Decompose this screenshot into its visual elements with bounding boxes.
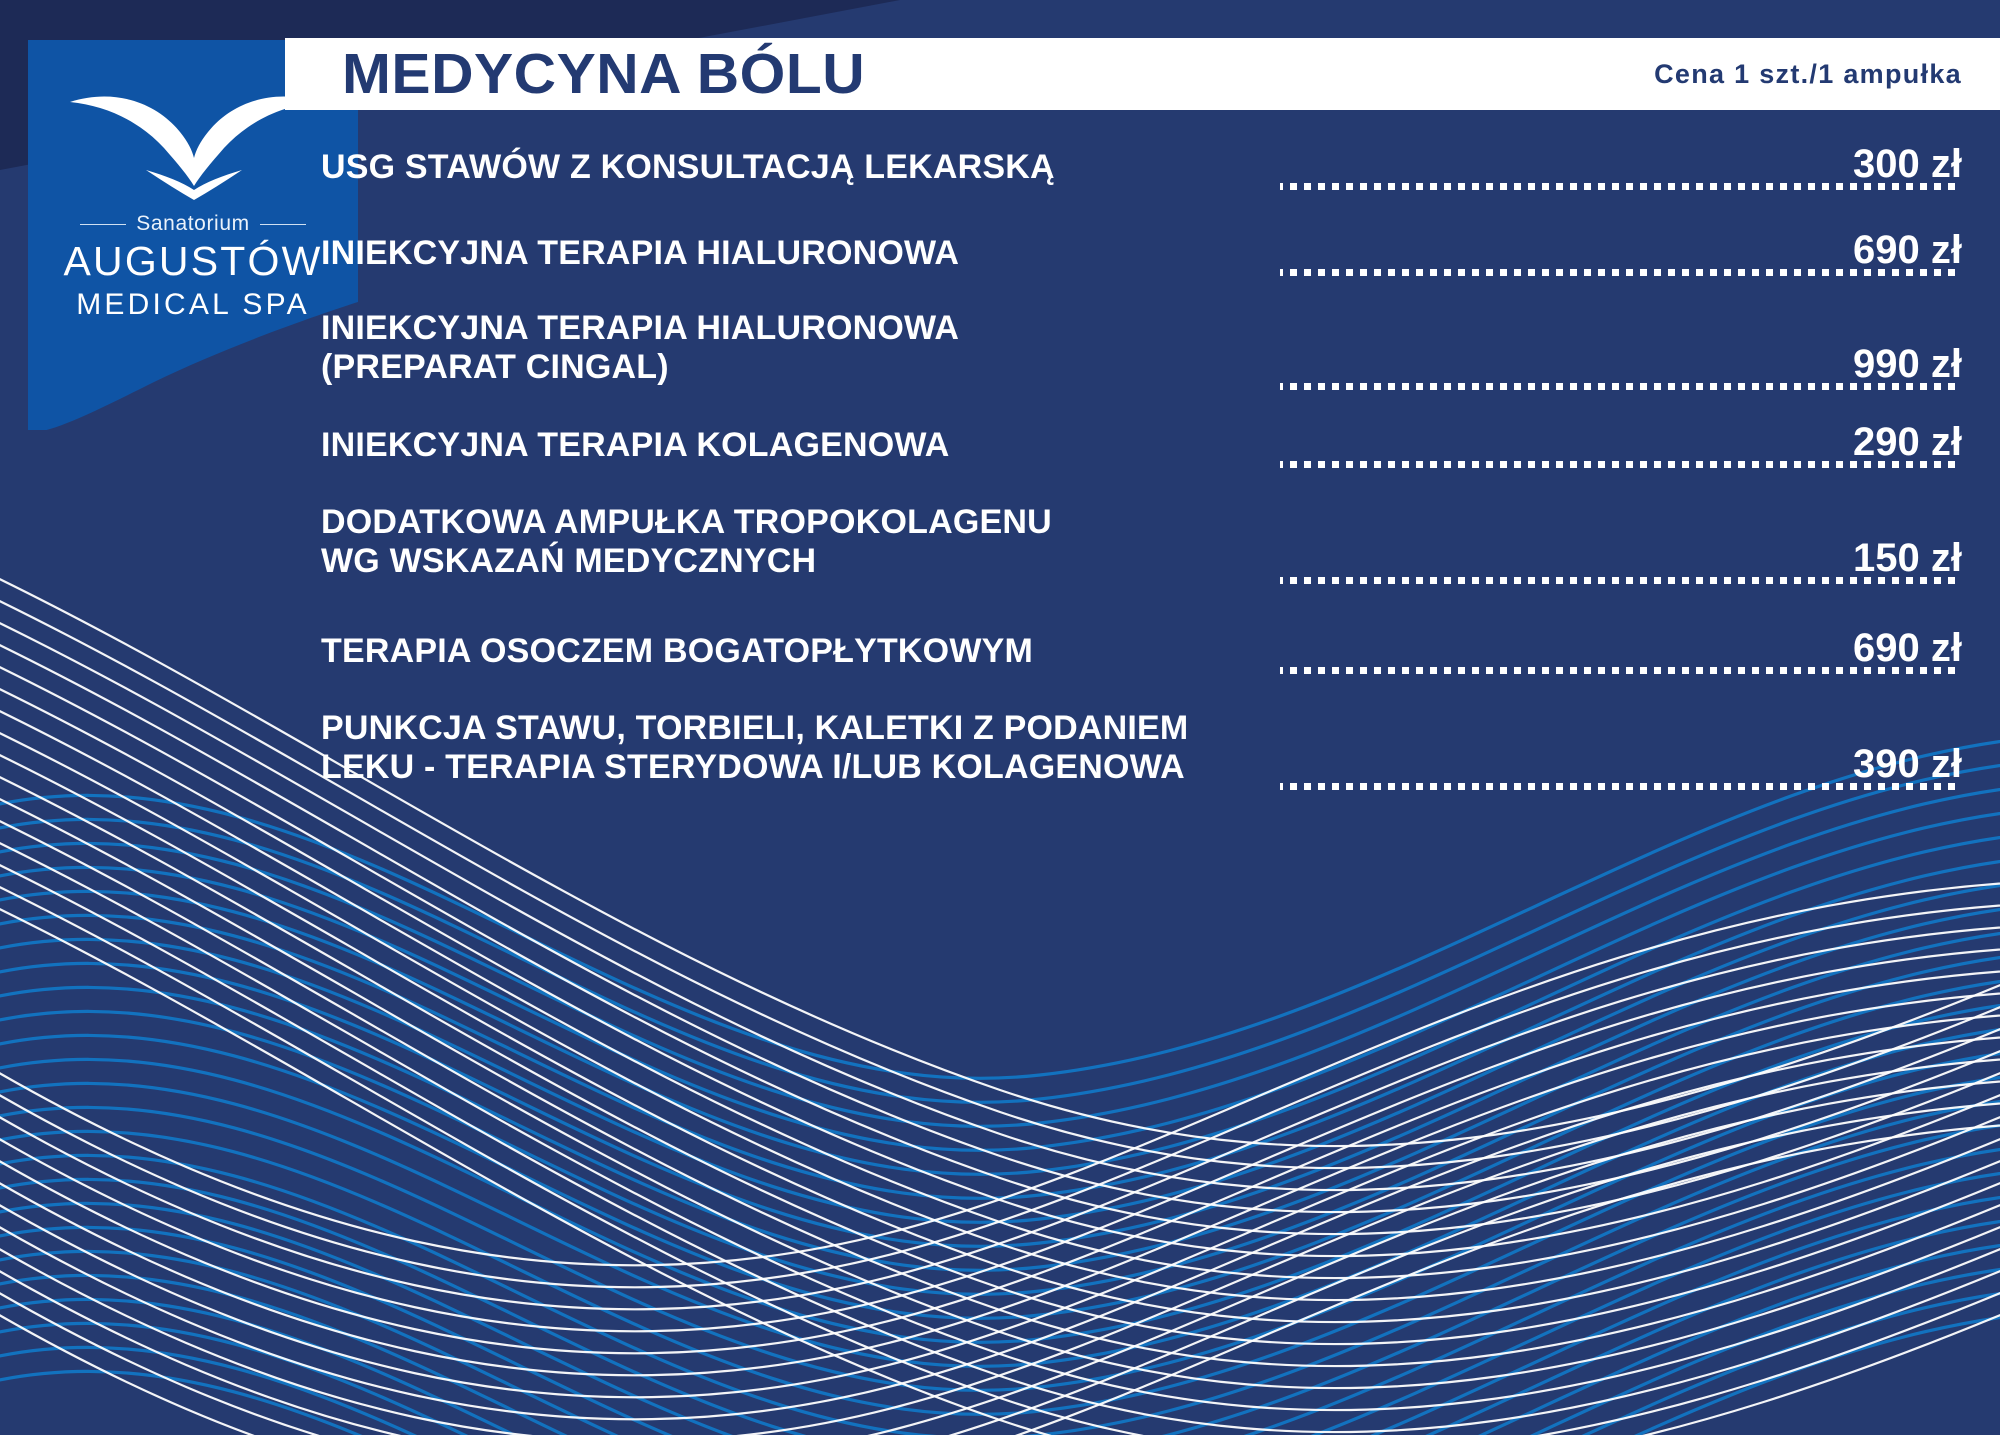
dotted-leader xyxy=(1280,783,1962,790)
service-price: 150 zł xyxy=(1853,538,1962,580)
price-row: USG STAWÓW Z KONSULTACJĄ LEKARSKĄ 300 zł xyxy=(285,118,2000,186)
price-row: INIEKCYJNA TERAPIA HIALURONOWA 690 zł xyxy=(285,190,2000,272)
page-title: MEDYCYNA BÓLU xyxy=(342,41,865,107)
service-name: TERAPIA OSOCZEM BOGATOPŁYTKOWYM xyxy=(321,632,1033,670)
price-row: PUNKCJA STAWU, TORBIELI, KALETKI Z PODAN… xyxy=(285,674,2000,786)
dotted-leader xyxy=(1280,269,1962,276)
brand-line-top: Sanatorium xyxy=(136,212,249,236)
price-row: INIEKCYJNA TERAPIA KOLAGENOWA 290 zł xyxy=(285,390,2000,464)
service-name: INIEKCYJNA TERAPIA HIALURONOWA (PREPARAT… xyxy=(321,309,959,386)
service-price: 300 zł xyxy=(1853,144,1962,186)
brand-rule-left xyxy=(80,224,126,225)
service-name: DODATKOWA AMPUŁKA TROPOKOLAGENU WG WSKAZ… xyxy=(321,503,1052,580)
price-row: INIEKCYJNA TERAPIA HIALURONOWA (PREPARAT… xyxy=(285,276,2000,386)
service-price: 390 zł xyxy=(1853,744,1962,786)
service-name: PUNKCJA STAWU, TORBIELI, KALETKI Z PODAN… xyxy=(321,709,1188,786)
service-name: INIEKCYJNA TERAPIA KOLAGENOWA xyxy=(321,426,950,464)
dotted-leader xyxy=(1280,667,1962,674)
service-name: USG STAWÓW Z KONSULTACJĄ LEKARSKĄ xyxy=(321,148,1055,186)
price-row: TERAPIA OSOCZEM BOGATOPŁYTKOWYM 690 zł xyxy=(285,584,2000,670)
header-bar: MEDYCYNA BÓLU Cena 1 szt./1 ampułka xyxy=(285,38,2000,110)
service-price: 690 zł xyxy=(1853,628,1962,670)
dotted-leader xyxy=(1280,577,1962,584)
service-price: 290 zł xyxy=(1853,422,1962,464)
price-list-page: Sanatorium AUGUSTÓW MEDICAL SPA MEDYCYNA… xyxy=(0,0,2000,1435)
price-column-label: Cena 1 szt./1 ampułka xyxy=(1654,59,1962,90)
price-list: USG STAWÓW Z KONSULTACJĄ LEKARSKĄ 300 zł… xyxy=(285,118,2000,790)
dotted-leader xyxy=(1280,383,1962,390)
dotted-leader xyxy=(1280,183,1962,190)
dotted-leader xyxy=(1280,461,1962,468)
service-price: 690 zł xyxy=(1853,230,1962,272)
service-price: 990 zł xyxy=(1853,344,1962,386)
price-row: DODATKOWA AMPUŁKA TROPOKOLAGENU WG WSKAZ… xyxy=(285,468,2000,580)
service-name: INIEKCYJNA TERAPIA HIALURONOWA xyxy=(321,234,959,272)
